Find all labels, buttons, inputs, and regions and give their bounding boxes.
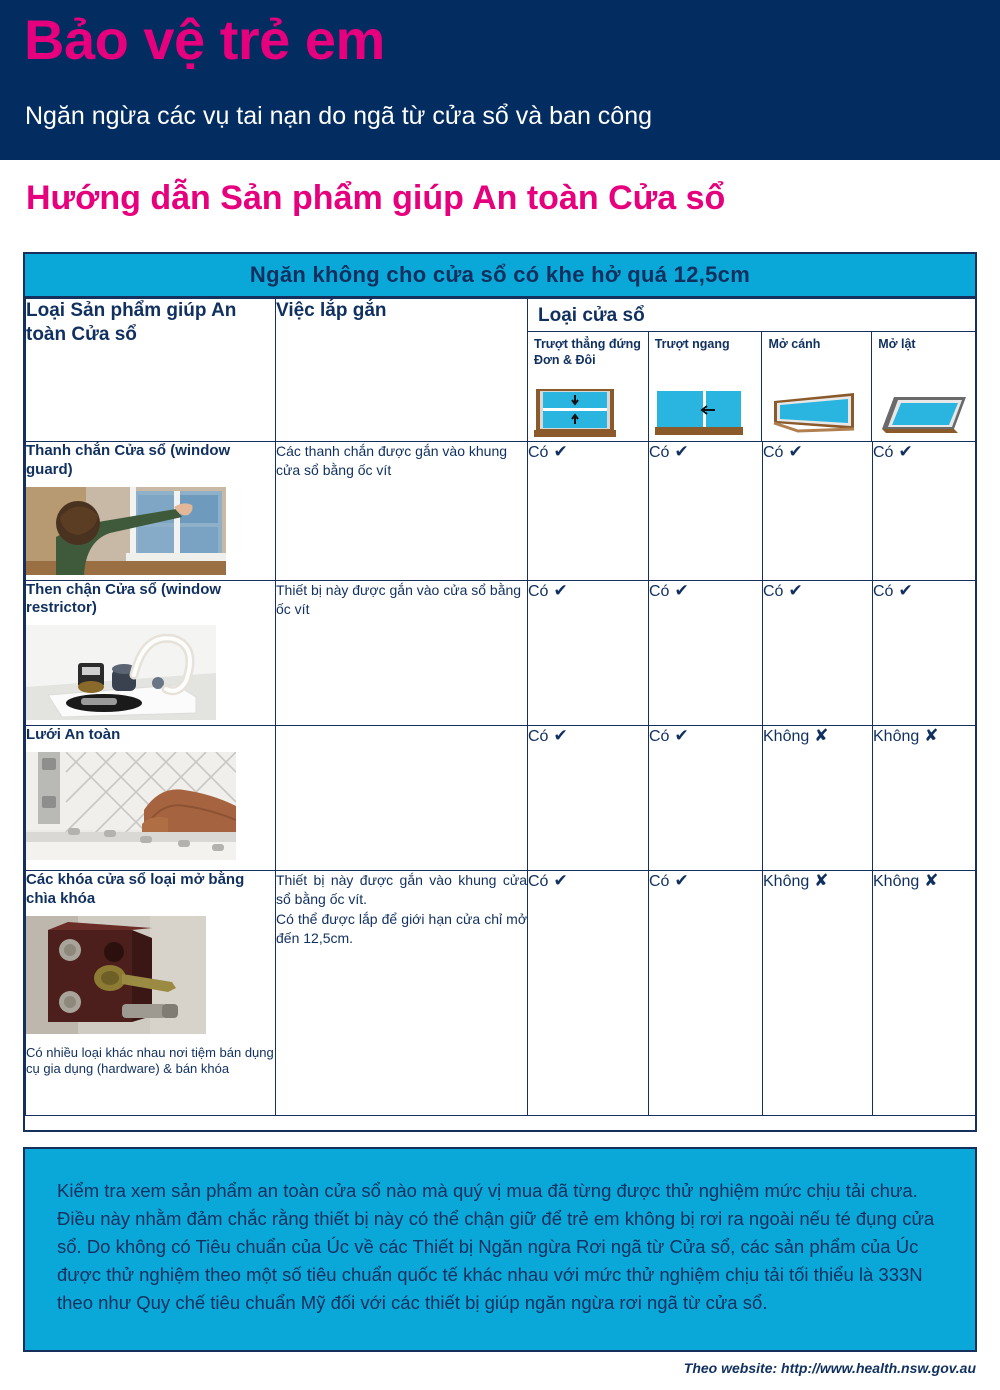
answer-cell-sliding: Có✔ — [649, 871, 763, 1116]
child-at-window-photo — [26, 487, 275, 580]
answer-mark: ✔ — [893, 442, 912, 461]
table-header-row: Loại Sản phẩm giúp An toàn Cửa sổ Việc l… — [26, 299, 976, 442]
table-row: Lưới An toàn — [26, 726, 976, 871]
answer-mark: ✔ — [893, 581, 912, 600]
top-banner: Bảo vệ trẻ em Ngăn ngừa các vụ tai nạn d… — [0, 0, 1000, 160]
header-window-type-casement: Mở cánh — [762, 332, 872, 441]
answer-mark: ✔ — [548, 726, 567, 745]
answer-cell-casement: Không✘ — [763, 726, 873, 871]
keyed-window-lock-photo — [26, 916, 275, 1039]
answer-mark: ✔ — [669, 871, 688, 890]
product-guide-table: Ngăn không cho cửa sổ có khe hở quá 12,5… — [23, 252, 977, 1132]
double-hung-window-icon — [534, 389, 644, 437]
source-citation: Theo website: http://www.health.nsw.gov.… — [684, 1360, 976, 1376]
answer-cell-awning: Có✔ — [873, 442, 976, 581]
installation-cell: Thiết bị này được gắn vào khung cửa sổ b… — [276, 871, 528, 1116]
answer-mark: ✔ — [669, 581, 688, 600]
answer-mark: ✔ — [548, 442, 567, 461]
header-window-type-double-hung: Trượt thẳng đứng Đơn & Đôi — [528, 332, 649, 441]
answer-text: Không — [873, 873, 919, 890]
installation-cell — [276, 726, 528, 871]
answer-cell-double-hung: Có✔ — [528, 726, 649, 871]
header-window-type-group: Loại cửa sổ Trượt thẳng đứng Đơn & Đôi — [528, 299, 976, 442]
answer-cell-sliding: Có✔ — [649, 726, 763, 871]
answer-text: Có — [528, 728, 548, 745]
page-headline: Hướng dẫn Sản phẩm giúp An toàn Cửa sổ — [26, 180, 976, 217]
answer-mark: ✘ — [919, 726, 938, 745]
answer-text: Có — [763, 444, 783, 461]
sliding-window-icon — [655, 389, 758, 437]
answer-text: Có — [528, 873, 548, 890]
product-cell: Các khóa cửa sổ loại mở bằng chìa khóa — [26, 871, 276, 1116]
answer-cell-awning: Không✘ — [873, 871, 976, 1116]
answer-cell-double-hung: Có✔ — [528, 580, 649, 726]
answer-mark: ✘ — [809, 726, 828, 745]
banner-subtitle: Ngăn ngừa các vụ tai nạn do ngã từ cửa s… — [25, 103, 652, 131]
advisory-note-box: Kiểm tra xem sản phẩm an toàn cửa sổ nào… — [23, 1147, 977, 1352]
guide-grid: Loại Sản phẩm giúp An toàn Cửa sổ Việc l… — [25, 298, 976, 1116]
product-cell: Lưới An toàn — [26, 726, 276, 871]
answer-mark: ✔ — [783, 442, 802, 461]
banner-title: Bảo vệ trẻ em — [24, 12, 385, 68]
header-window-type-sliding: Trượt ngang — [649, 332, 763, 441]
safety-mesh-photo — [26, 752, 275, 865]
answer-cell-sliding: Có✔ — [649, 442, 763, 581]
answer-text: Có — [873, 583, 893, 600]
answer-text: Có — [763, 583, 783, 600]
header-installation: Việc lắp gắn — [276, 299, 528, 442]
casement-window-icon — [768, 389, 867, 437]
answer-mark: ✘ — [809, 871, 828, 890]
advisory-note-text: Kiểm tra xem sản phẩm an toàn cửa sổ nào… — [57, 1177, 941, 1318]
answer-text: Có — [873, 444, 893, 461]
answer-mark: ✔ — [548, 581, 567, 600]
answer-cell-double-hung: Có✔ — [528, 442, 649, 581]
table-row: Then chận Cửa sổ (window restrictor) — [26, 580, 976, 726]
table-band: Ngăn không cho cửa sổ có khe hở quá 12,5… — [25, 254, 975, 298]
answer-cell-casement: Có✔ — [763, 580, 873, 726]
window-restrictor-photo — [26, 625, 275, 725]
answer-cell-casement: Không✘ — [763, 871, 873, 1116]
answer-text: Có — [649, 583, 669, 600]
answer-text: Có — [528, 583, 548, 600]
answer-mark: ✔ — [548, 871, 567, 890]
table-row: Thanh chắn Cửa sổ (window guard) — [26, 442, 976, 581]
answer-text: Có — [528, 444, 548, 461]
header-window-type-awning: Mở lật — [872, 332, 975, 441]
table-band-text: Ngăn không cho cửa sổ có khe hở quá 12,5… — [250, 262, 750, 288]
answer-mark: ✔ — [669, 442, 688, 461]
answer-mark: ✔ — [783, 581, 802, 600]
answer-text: Có — [649, 728, 669, 745]
product-cell: Then chận Cửa sổ (window restrictor) — [26, 580, 276, 726]
answer-text: Có — [649, 444, 669, 461]
awning-window-icon — [878, 389, 971, 437]
header-window-type-title: Loại cửa sổ — [528, 299, 975, 332]
answer-cell-awning: Có✔ — [873, 580, 976, 726]
answer-text: Không — [873, 728, 919, 745]
answer-text: Có — [649, 873, 669, 890]
answer-cell-sliding: Có✔ — [649, 580, 763, 726]
answer-mark: ✔ — [669, 726, 688, 745]
answer-text: Không — [763, 728, 809, 745]
table-row: Các khóa cửa sổ loại mở bằng chìa khóa — [26, 871, 976, 1116]
answer-mark: ✘ — [919, 871, 938, 890]
product-cell: Thanh chắn Cửa sổ (window guard) — [26, 442, 276, 581]
answer-cell-double-hung: Có✔ — [528, 871, 649, 1116]
answer-cell-awning: Không✘ — [873, 726, 976, 871]
answer-text: Không — [763, 873, 809, 890]
installation-cell: Thiết bị này được gắn vào cửa sổ bằng ốc… — [276, 580, 528, 726]
installation-cell: Các thanh chắn được gắn vào khung cửa sổ… — [276, 442, 528, 581]
answer-cell-casement: Có✔ — [763, 442, 873, 581]
header-product: Loại Sản phẩm giúp An toàn Cửa sổ — [26, 299, 276, 442]
